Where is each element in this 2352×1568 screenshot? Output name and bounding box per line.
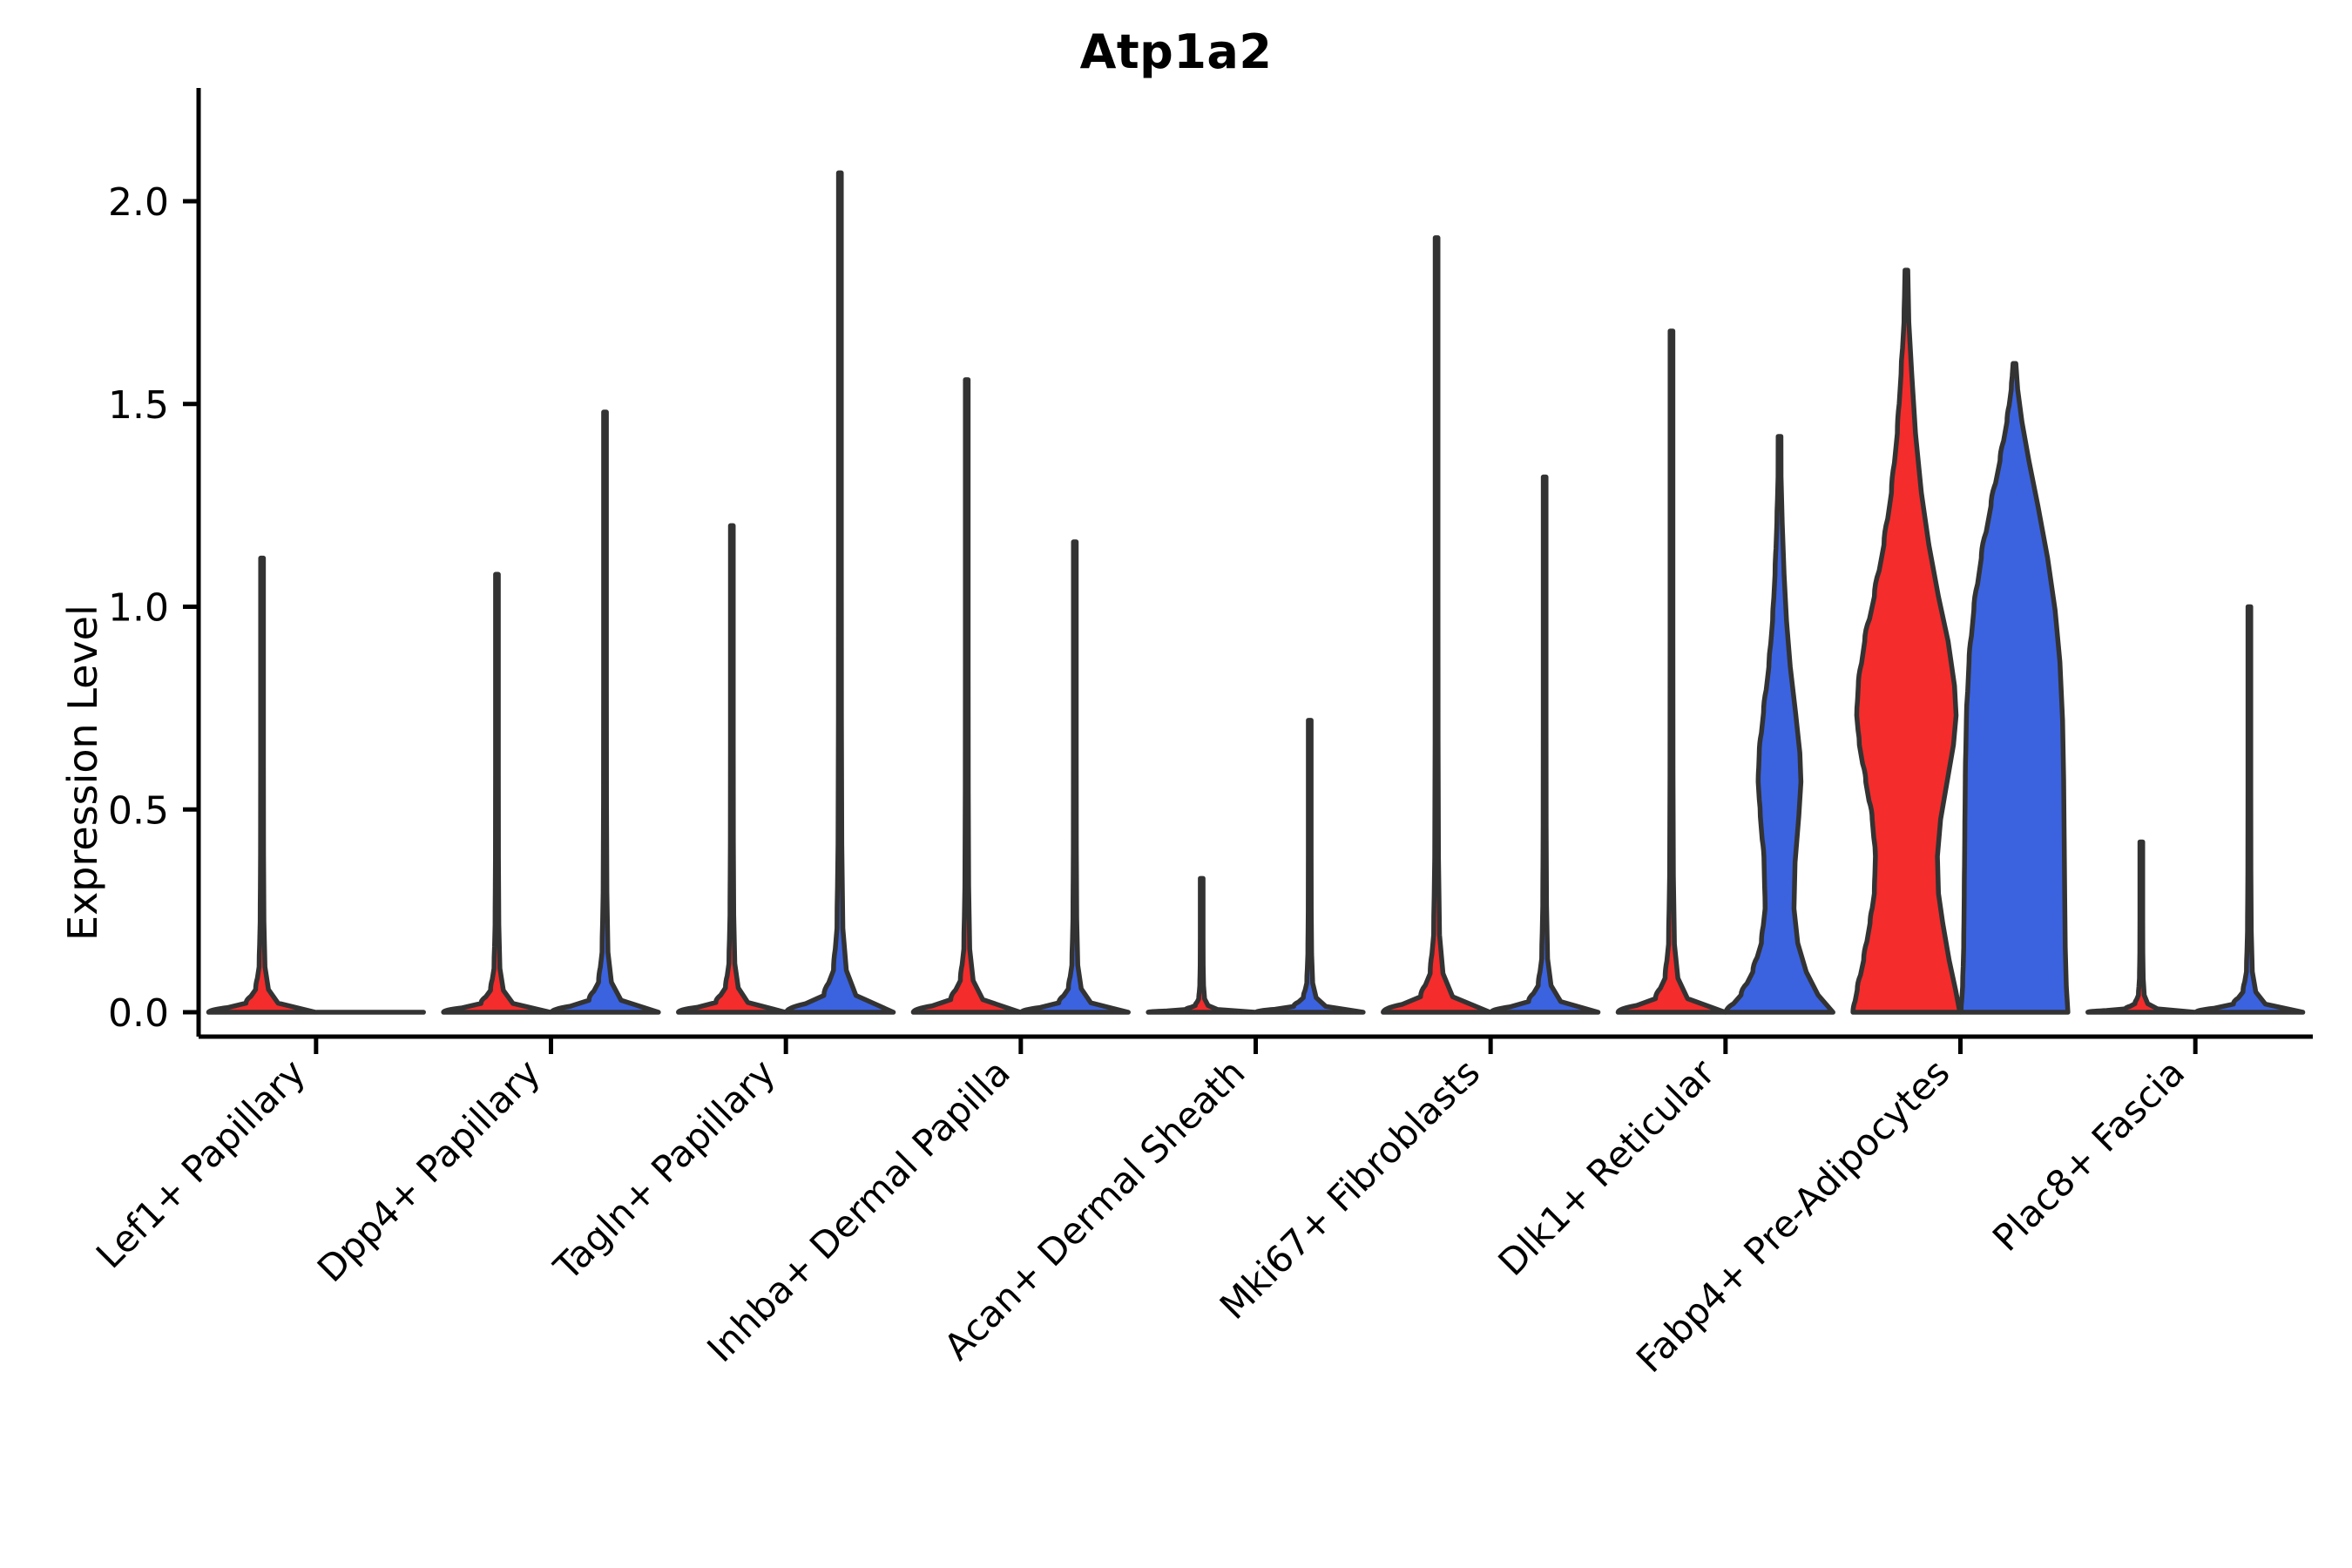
violin-body — [2196, 607, 2303, 1013]
violin-group_b-7[interactable] — [1961, 363, 2068, 1012]
violin-group_a-4[interactable] — [1148, 878, 1255, 1012]
violin-group_a-3[interactable] — [913, 380, 1020, 1012]
violin-body — [551, 412, 659, 1012]
x-tick-label-2: Tagln+ Papillary — [545, 1051, 783, 1288]
x-tick-label-8: Plac8+ Fascia — [1984, 1051, 2193, 1259]
violin-body — [443, 574, 551, 1012]
y-tick-label: 1.5 — [108, 383, 169, 428]
violin-group_b-1[interactable] — [551, 412, 659, 1012]
x-tick-label-5: Mki67+ Fibroblasts — [1212, 1051, 1488, 1327]
violin-body — [1148, 878, 1255, 1012]
violin-group_a-7[interactable] — [1853, 270, 1960, 1012]
violins-layer — [208, 172, 2302, 1012]
violin-body — [1383, 238, 1490, 1012]
violin-group_a-2[interactable] — [679, 525, 786, 1012]
y-tick-label: 0.0 — [108, 991, 169, 1036]
violin-group_b-4[interactable] — [1256, 720, 1363, 1012]
violin-body — [787, 172, 894, 1012]
violin-group_b-3[interactable] — [1022, 542, 1129, 1012]
x-tick-label-6: Dlk1+ Reticular — [1490, 1051, 1723, 1284]
violin-body — [1961, 363, 2068, 1012]
y-tick-layer: 0.00.51.01.52.0 — [108, 180, 199, 1036]
violin-body — [1853, 270, 1960, 1012]
violin-body — [2088, 841, 2195, 1012]
violin-group_a-1[interactable] — [443, 574, 551, 1012]
violin-group_a-6[interactable] — [1618, 331, 1725, 1012]
violin-body — [1618, 331, 1725, 1012]
violin-group_b-8[interactable] — [2196, 607, 2303, 1013]
violin-body — [913, 380, 1020, 1012]
violin-body — [1256, 720, 1363, 1012]
violin-body — [1727, 436, 1834, 1012]
violin-body — [1491, 477, 1598, 1012]
y-tick-label: 0.5 — [108, 788, 169, 833]
violin-body — [208, 558, 315, 1012]
violin-group_b-2[interactable] — [787, 172, 894, 1012]
x-tick-label-1: Dpp4+ Papillary — [309, 1051, 549, 1290]
violin-body — [679, 525, 786, 1012]
violin-plot-figure: Atp1a2 Expression Level 0.00.51.01.52.0 … — [0, 0, 2352, 1568]
violin-group_a-0[interactable] — [208, 558, 315, 1012]
plot-canvas: 0.00.51.01.52.0 Lef1+ PapillaryDpp4+ Pap… — [0, 0, 2352, 1568]
x-tick-label-0: Lef1+ Papillary — [88, 1051, 314, 1276]
violin-group_b-6[interactable] — [1727, 436, 1834, 1012]
x-tick-layer: Lef1+ PapillaryDpp4+ PapillaryTagln+ Pap… — [88, 1037, 2195, 1381]
y-tick-label: 1.0 — [108, 586, 169, 631]
violin-group_b-5[interactable] — [1491, 477, 1598, 1012]
violin-body — [1022, 542, 1129, 1012]
violin-group_a-8[interactable] — [2088, 841, 2195, 1012]
y-tick-label: 2.0 — [108, 180, 169, 225]
violin-group_a-5[interactable] — [1383, 238, 1490, 1012]
